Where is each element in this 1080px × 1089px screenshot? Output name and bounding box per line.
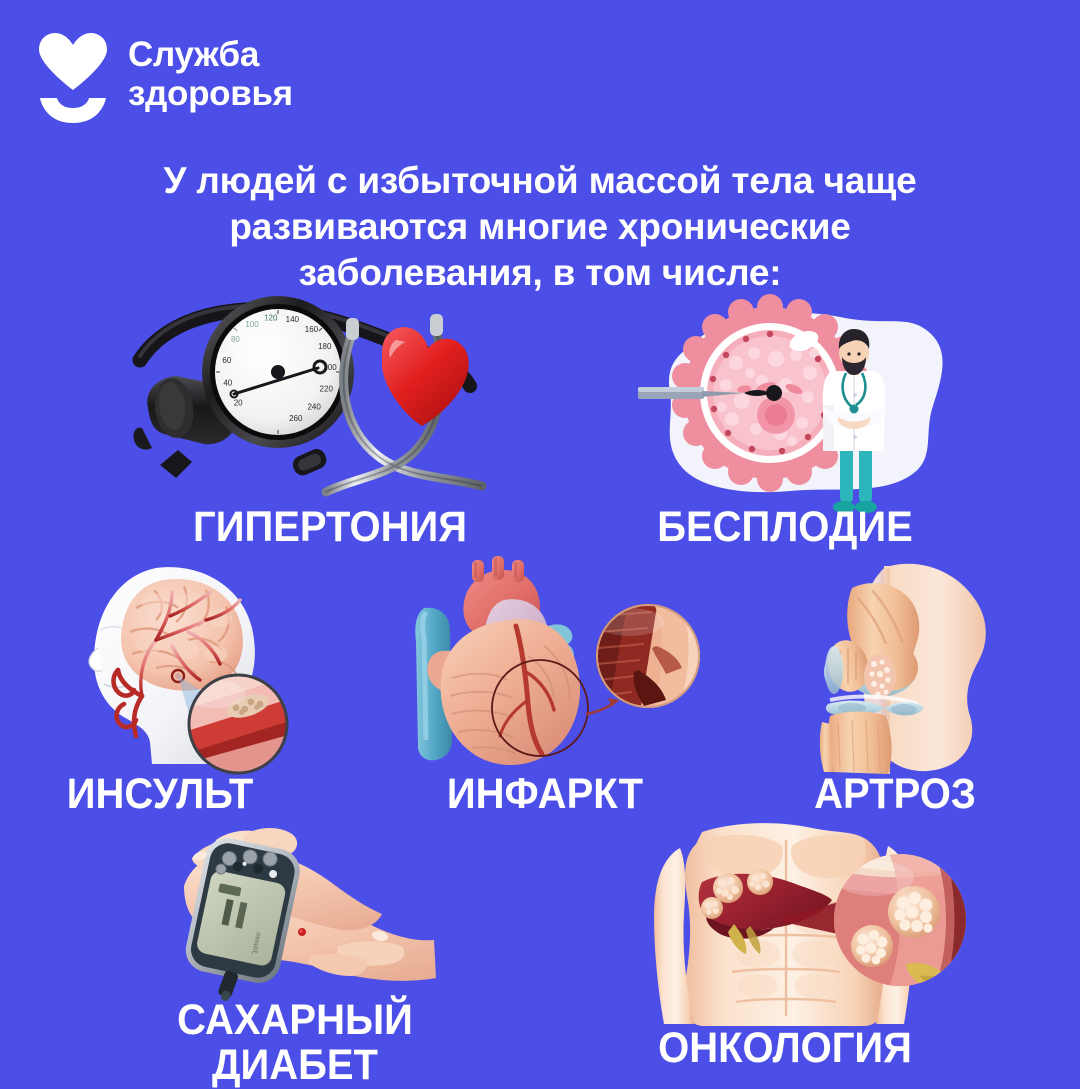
- illustration-hypertension: 20 40 60 80 100 120 140 160 180 200 220 …: [130, 300, 510, 505]
- svg-text:180: 180: [318, 342, 332, 351]
- svg-text:220: 220: [320, 384, 334, 393]
- label-stroke: ИНСУЛЬТ: [44, 772, 277, 816]
- label-oncology: ОНКОЛОГИЯ: [641, 1026, 929, 1070]
- page-title: У людей с избыточной массой тела чаще ра…: [0, 158, 1080, 296]
- svg-text:20: 20: [234, 398, 243, 407]
- illustration-stroke: [60, 556, 320, 778]
- label-diabetes-line1: САХАРНЫЙ: [156, 998, 435, 1043]
- page-title-line1: У людей с избыточной массой тела чаще: [70, 158, 1010, 204]
- label-arthrosis: АРТРОЗ: [802, 772, 988, 816]
- svg-text:240: 240: [307, 402, 321, 411]
- svg-text:140: 140: [286, 315, 300, 324]
- illustration-oncology: [636, 828, 966, 1026]
- brand-name-line1: Служба: [128, 35, 293, 74]
- label-infertility: БЕСПЛОДИЕ: [632, 505, 939, 549]
- heart-smile-logo-icon: [36, 32, 110, 124]
- svg-text:160: 160: [305, 325, 319, 334]
- label-hypertension: ГИПЕРТОНИЯ: [163, 505, 498, 549]
- illustration-infertility: [640, 305, 970, 510]
- brand-logo: Служба здоровья: [36, 32, 293, 124]
- svg-text:60: 60: [222, 356, 231, 365]
- illustration-arthrosis: [818, 558, 1018, 780]
- brand-name: Служба здоровья: [128, 32, 293, 113]
- label-diabetes-line2: ДИАБЕТ: [156, 1043, 435, 1088]
- svg-text:260: 260: [289, 414, 303, 423]
- page-title-line3: заболевания, в том числе:: [70, 250, 1010, 296]
- page-title-line2: развиваются многие хронические: [70, 204, 1010, 250]
- label-diabetes: САХАРНЫЙ ДИАБЕТ: [156, 998, 435, 1088]
- label-heart-attack: ИНФАРКТ: [429, 772, 662, 816]
- brand-name-line2: здоровья: [128, 74, 293, 113]
- svg-text:40: 40: [223, 378, 232, 387]
- illustration-diabetes: mmol/L: [150, 828, 440, 998]
- illustration-heart-attack: [400, 560, 700, 780]
